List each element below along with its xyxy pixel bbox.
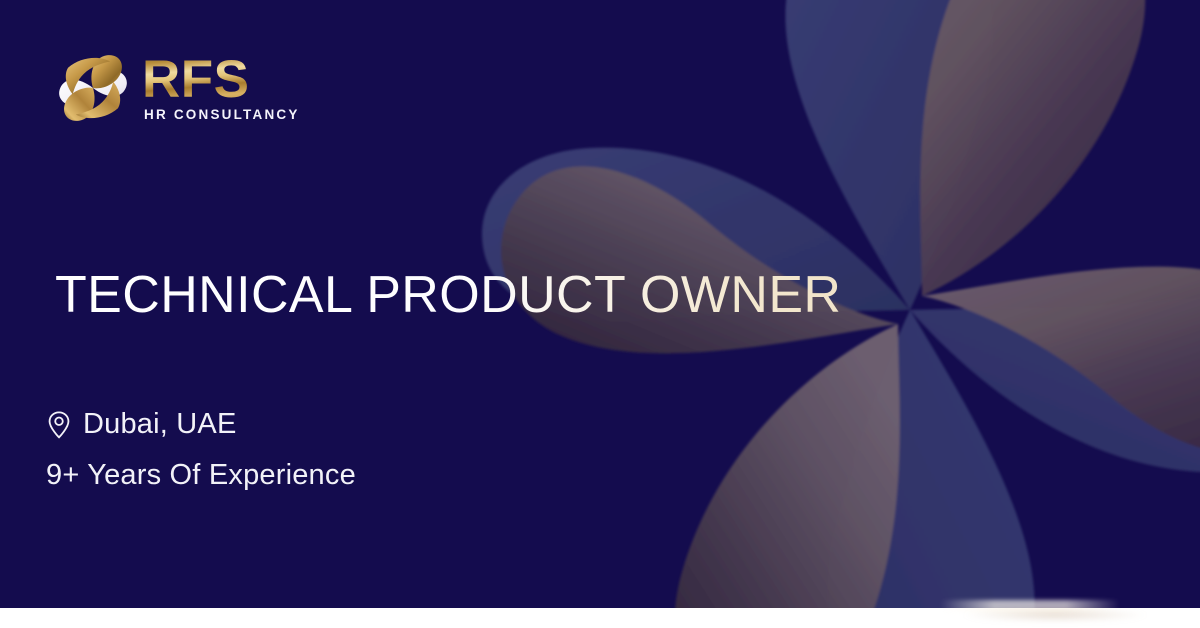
logo-text-block: RFS HR CONSULTANCY: [142, 54, 300, 123]
logo-wordmark: RFS: [142, 56, 250, 105]
logo-subtitle: HR CONSULTANCY: [144, 107, 300, 122]
job-meta: Dubai, UAE 9+ Years Of Experience: [46, 408, 356, 492]
job-experience-text: 9+ Years Of Experience: [46, 459, 356, 492]
job-title: TECHNICAL PRODUCT OWNER: [55, 267, 841, 324]
banner-card: RFS HR CONSULTANCY TECHNICAL PRODUCT OWN…: [0, 0, 1200, 608]
pinwheel-logo-icon: [54, 48, 132, 128]
job-location-row: Dubai, UAE: [46, 408, 356, 441]
job-banner: RFS HR CONSULTANCY TECHNICAL PRODUCT OWN…: [0, 0, 1200, 628]
brand-logo: RFS HR CONSULTANCY: [54, 48, 300, 128]
job-location-text: Dubai, UAE: [83, 408, 237, 441]
job-experience-row: 9+ Years Of Experience: [46, 459, 356, 492]
map-pin-icon: [46, 410, 72, 440]
